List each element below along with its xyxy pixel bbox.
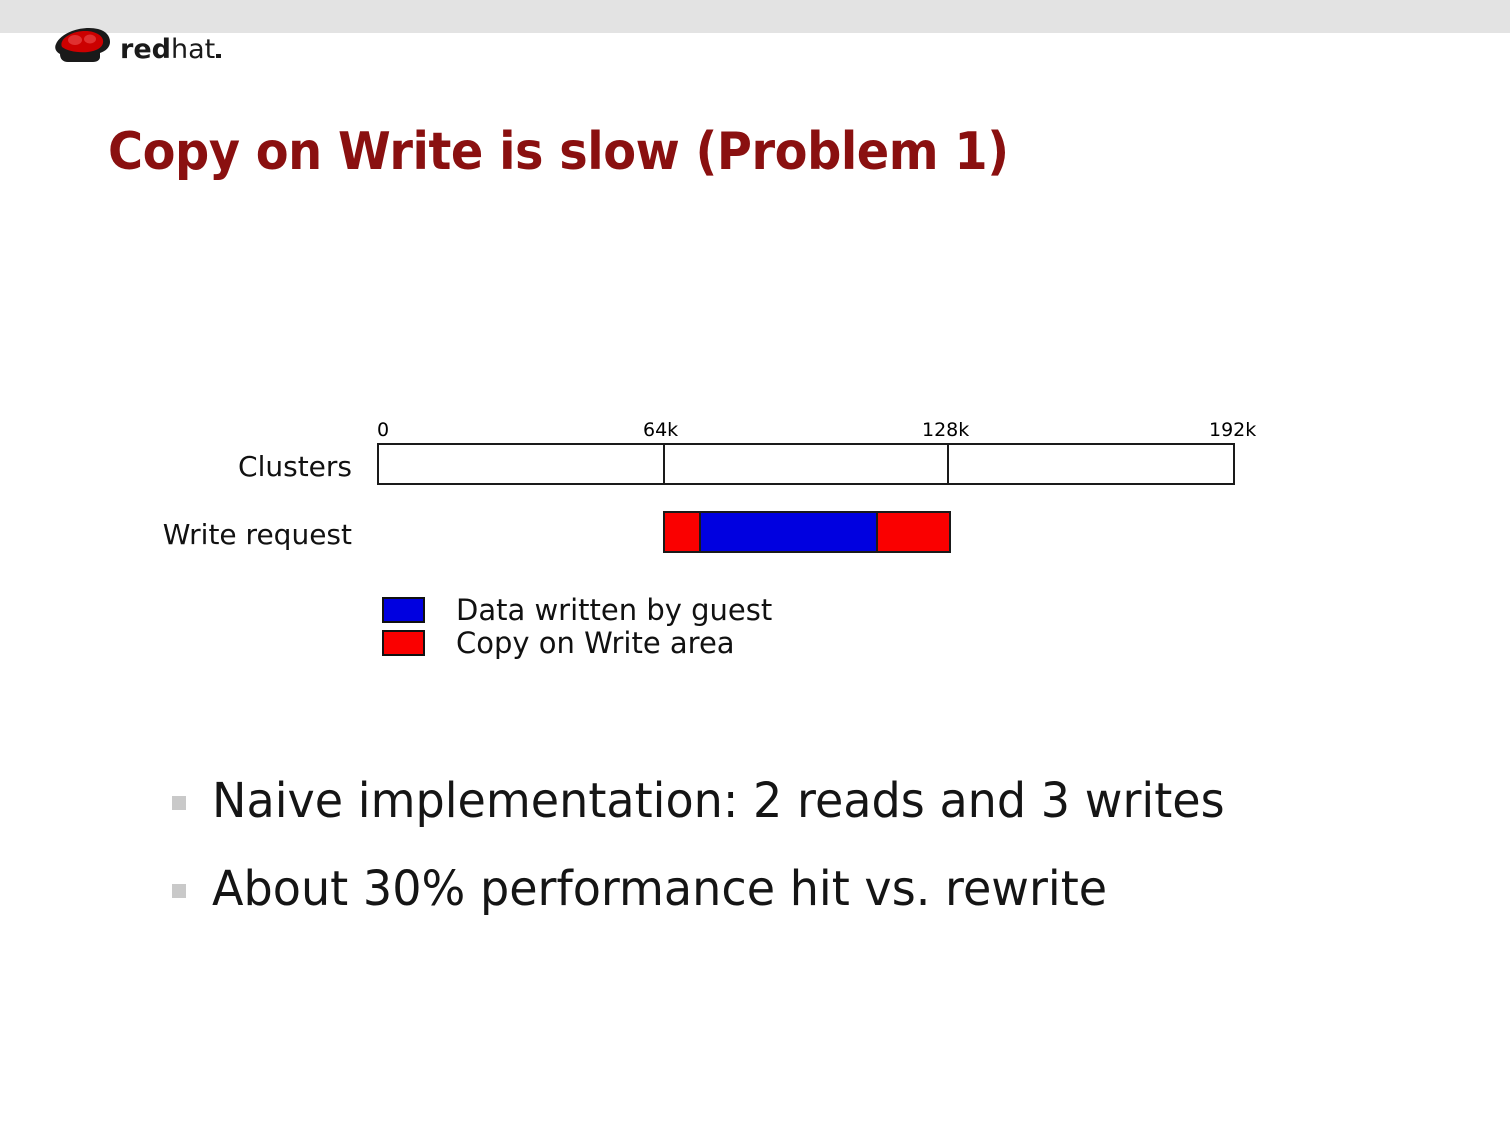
clusters-bar	[377, 443, 1235, 485]
cluster-divider-128k	[947, 445, 949, 483]
axis-tick-192k: 192k	[1209, 419, 1256, 441]
bullet-text-2: About 30% performance hit vs. rewrite	[212, 858, 1107, 920]
legend-swatch-cow	[382, 630, 425, 656]
axis-tick-128k: 128k	[922, 419, 969, 441]
bullet-item-1: Naive implementation: 2 reads and 3 writ…	[172, 770, 1372, 832]
axis-tick-0: 0	[377, 419, 389, 441]
legend-swatch-guest	[382, 597, 425, 623]
bullet-text-1: Naive implementation: 2 reads and 3 writ…	[212, 770, 1225, 832]
write-segment-guest-data	[701, 513, 876, 551]
logo-wordmark-red: red	[120, 34, 171, 65]
row-label-write-request: Write request	[0, 518, 352, 551]
bullet-square-icon	[172, 884, 186, 898]
legend-row-guest: Data written by guest	[382, 593, 772, 626]
write-segment-cow-right	[878, 513, 949, 551]
shadowman-icon: red hat	[48, 20, 288, 66]
logo-trademark-dot	[216, 54, 221, 58]
bullet-item-2: About 30% performance hit vs. rewrite	[172, 858, 1372, 920]
diagram-legend: Data written by guest Copy on Write area	[382, 593, 772, 659]
axis-tick-64k: 64k	[643, 419, 678, 441]
bullet-list: Naive implementation: 2 reads and 3 writ…	[172, 770, 1372, 946]
write-request-bar	[663, 511, 951, 553]
bullet-square-icon	[172, 796, 186, 810]
cluster-divider-64k	[663, 445, 665, 483]
row-label-clusters: Clusters	[0, 450, 352, 483]
write-segment-cow-left	[665, 513, 699, 551]
legend-label-guest: Data written by guest	[456, 593, 772, 627]
legend-label-cow: Copy on Write area	[456, 626, 735, 660]
slide-title: Copy on Write is slow (Problem 1)	[108, 122, 1009, 182]
redhat-logo: red hat	[48, 20, 288, 66]
legend-row-cow: Copy on Write area	[382, 626, 772, 659]
logo-wordmark-hat: hat	[171, 34, 215, 65]
